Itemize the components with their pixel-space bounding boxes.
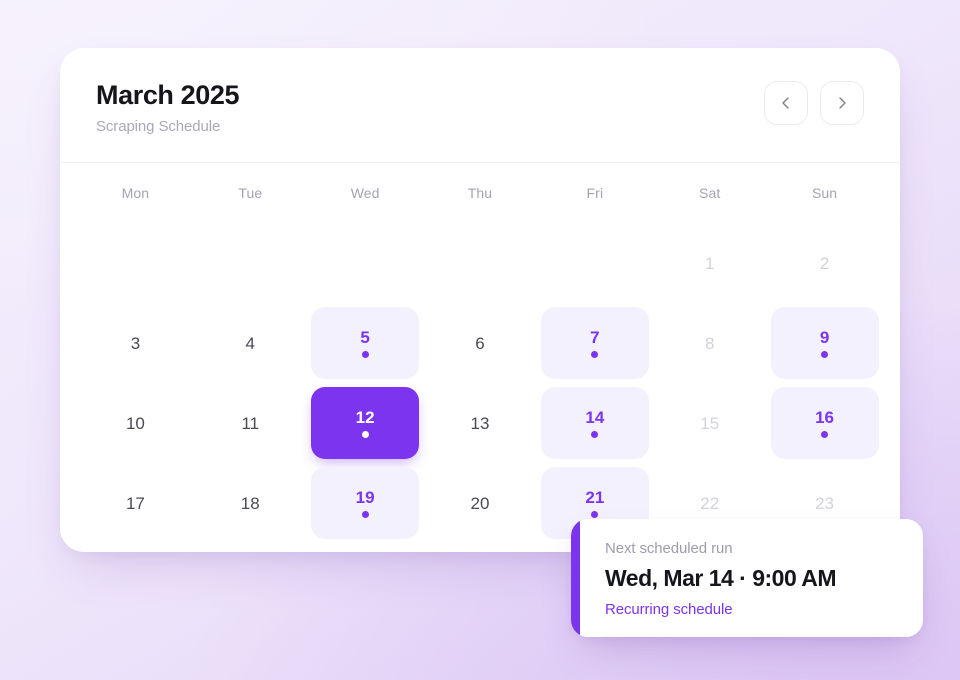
calendar-cell-empty: [193, 223, 308, 303]
calendar-day-cell[interactable]: 16: [767, 383, 882, 463]
scheduled-run-dot: [591, 351, 598, 358]
calendar-day-cell[interactable]: 1: [652, 223, 767, 303]
month-nav: [764, 79, 864, 125]
calendar-day-cell[interactable]: 18: [193, 463, 308, 543]
weekday-label-sat: Sat: [652, 185, 767, 201]
calendar-cell-empty: [308, 223, 423, 303]
day-box: 5: [311, 307, 419, 379]
day-number: 3: [131, 335, 140, 352]
day-box: 20: [426, 467, 534, 539]
page-title: March 2025: [96, 80, 239, 111]
calendar-cell-empty: [423, 223, 538, 303]
day-box: 16: [771, 387, 879, 459]
day-number: 12: [356, 409, 375, 426]
day-number: 20: [471, 495, 490, 512]
day-box: 4: [196, 307, 304, 379]
tooltip-recurrence[interactable]: Recurring schedule: [605, 601, 923, 618]
calendar-cell-empty: [537, 223, 652, 303]
day-box: [196, 227, 304, 299]
day-number: 22: [700, 495, 719, 512]
calendar-day-cell[interactable]: 15: [652, 383, 767, 463]
calendar-day-cell[interactable]: 12: [308, 383, 423, 463]
day-number: 8: [705, 335, 714, 352]
day-box: 19: [311, 467, 419, 539]
next-month-button[interactable]: [820, 81, 864, 125]
day-box: 11: [196, 387, 304, 459]
day-box: [311, 227, 419, 299]
weekday-label-sun: Sun: [767, 185, 882, 201]
day-number: 9: [820, 329, 829, 346]
next-run-tooltip: Next scheduled run Wed, Mar 14 · 9:00 AM…: [571, 519, 923, 637]
calendar-day-cell[interactable]: 14: [537, 383, 652, 463]
calendar-day-cell[interactable]: 6: [423, 303, 538, 383]
title-block: March 2025 Scraping Schedule: [96, 79, 239, 135]
scheduled-run-dot: [362, 351, 369, 358]
day-box: [541, 227, 649, 299]
day-number: 11: [241, 415, 259, 432]
tooltip-accent-bar: [571, 519, 580, 637]
calendar-day-cell[interactable]: 13: [423, 383, 538, 463]
day-number: 1: [705, 255, 714, 272]
day-number: 15: [700, 415, 719, 432]
day-number: 2: [820, 255, 829, 272]
weekday-header-row: MonTueWedThuFriSatSun: [60, 163, 900, 201]
day-box: 7: [541, 307, 649, 379]
chevron-right-icon: [834, 95, 850, 111]
calendar-grid: 1234567891011121314151617181920212223: [60, 201, 900, 543]
day-number: 10: [126, 415, 145, 432]
day-box: 8: [656, 307, 764, 379]
calendar-cell-empty: [78, 223, 193, 303]
day-box: 3: [81, 307, 189, 379]
scheduled-run-dot: [591, 511, 598, 518]
page-subtitle: Scraping Schedule: [96, 118, 239, 135]
day-box: 15: [656, 387, 764, 459]
day-number: 21: [585, 489, 604, 506]
calendar-day-cell[interactable]: 5: [308, 303, 423, 383]
calendar-day-cell[interactable]: 3: [78, 303, 193, 383]
calendar-day-cell[interactable]: 17: [78, 463, 193, 543]
scheduled-run-dot: [821, 431, 828, 438]
day-number: 5: [360, 329, 369, 346]
calendar-day-cell[interactable]: 9: [767, 303, 882, 383]
calendar-day-cell[interactable]: 7: [537, 303, 652, 383]
day-box: 17: [81, 467, 189, 539]
scheduled-run-dot: [362, 431, 369, 438]
calendar-day-cell[interactable]: 2: [767, 223, 882, 303]
weekday-label-mon: Mon: [78, 185, 193, 201]
weekday-label-wed: Wed: [308, 185, 423, 201]
day-box: [426, 227, 534, 299]
weekday-label-tue: Tue: [193, 185, 308, 201]
prev-month-button[interactable]: [764, 81, 808, 125]
day-box: 2: [771, 227, 879, 299]
day-number: 7: [590, 329, 599, 346]
scheduled-run-dot: [821, 351, 828, 358]
weekday-label-fri: Fri: [537, 185, 652, 201]
day-box: 12: [311, 387, 419, 459]
tooltip-datetime: Wed, Mar 14 · 9:00 AM: [605, 565, 923, 592]
day-number: 18: [241, 495, 260, 512]
scheduled-run-dot: [362, 511, 369, 518]
day-number: 4: [246, 335, 255, 352]
calendar-day-cell[interactable]: 11: [193, 383, 308, 463]
day-box: 6: [426, 307, 534, 379]
calendar-day-cell[interactable]: 8: [652, 303, 767, 383]
day-box: 1: [656, 227, 764, 299]
day-box: 18: [196, 467, 304, 539]
day-number: 17: [126, 495, 145, 512]
day-box: 9: [771, 307, 879, 379]
calendar-day-cell[interactable]: 20: [423, 463, 538, 543]
chevron-left-icon: [778, 95, 794, 111]
day-box: [81, 227, 189, 299]
day-number: 23: [815, 495, 834, 512]
weekday-label-thu: Thu: [423, 185, 538, 201]
day-number: 16: [815, 409, 834, 426]
day-box: 13: [426, 387, 534, 459]
calendar-day-cell[interactable]: 10: [78, 383, 193, 463]
calendar-day-cell[interactable]: 19: [308, 463, 423, 543]
calendar-day-cell[interactable]: 4: [193, 303, 308, 383]
calendar-card: March 2025 Scraping Schedule MonTueWedT: [60, 48, 900, 552]
day-number: 6: [475, 335, 484, 352]
tooltip-label: Next scheduled run: [605, 540, 923, 557]
scheduled-run-dot: [591, 431, 598, 438]
day-box: 10: [81, 387, 189, 459]
day-number: 14: [585, 409, 604, 426]
calendar-header: March 2025 Scraping Schedule: [60, 48, 900, 163]
day-box: 14: [541, 387, 649, 459]
day-number: 19: [356, 489, 375, 506]
day-number: 13: [471, 415, 490, 432]
